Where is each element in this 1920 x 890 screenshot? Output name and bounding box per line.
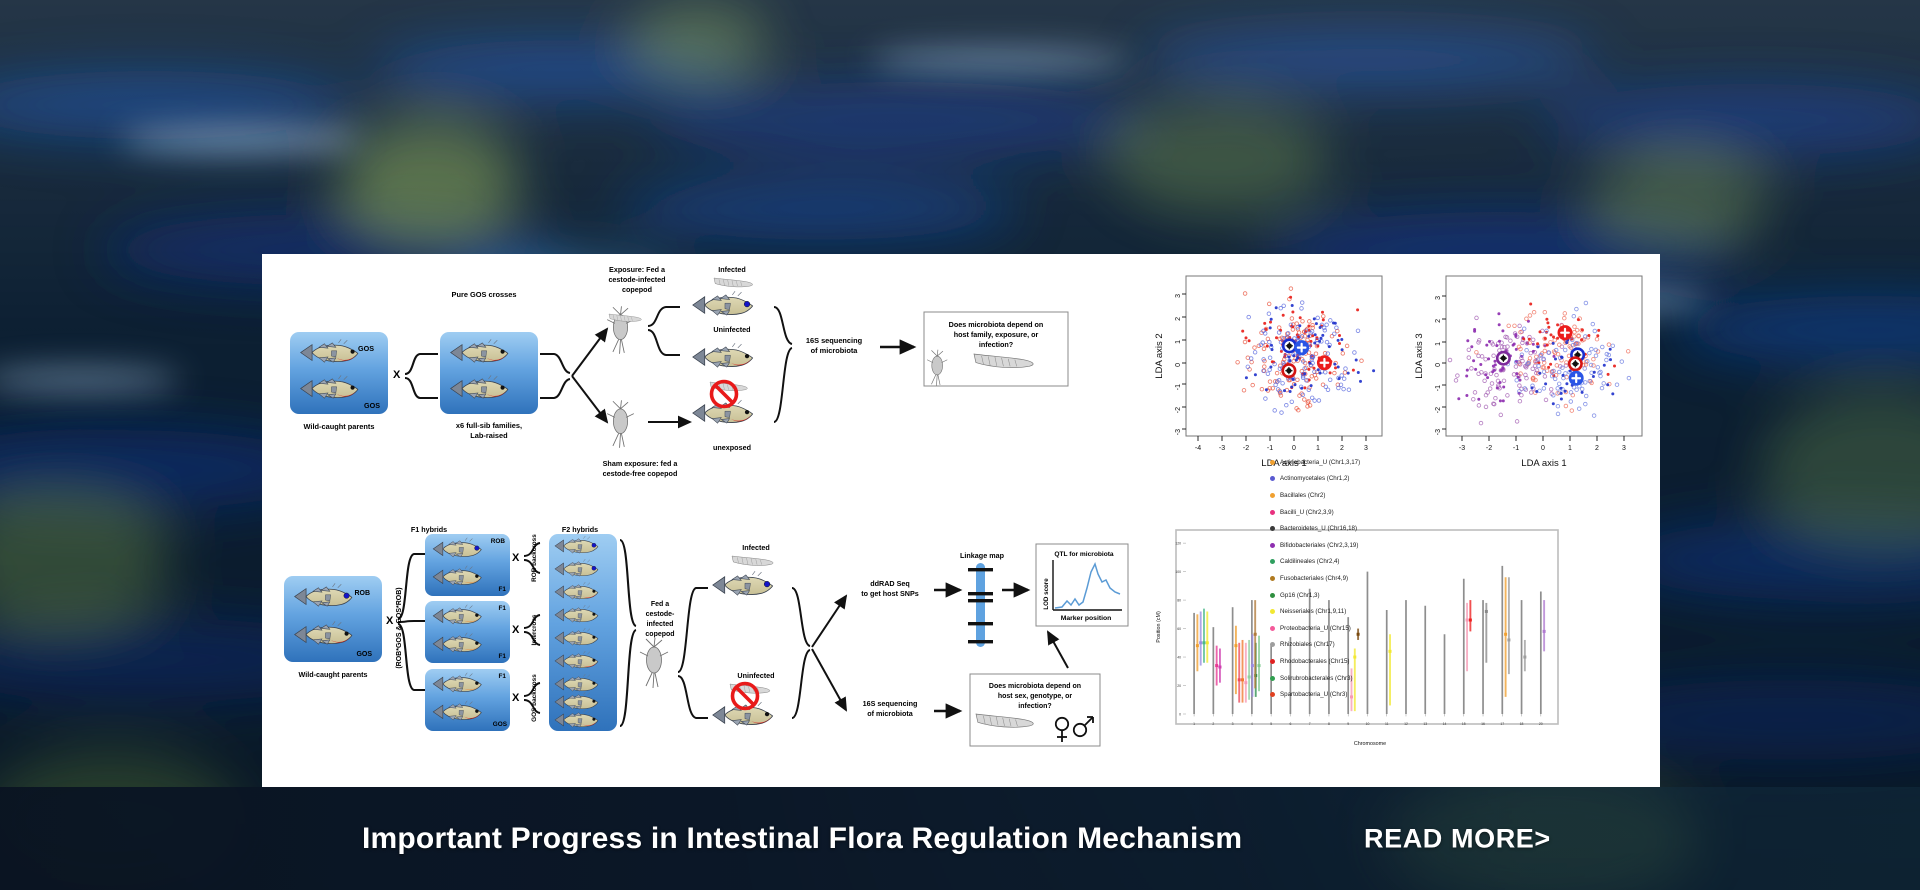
svg-text:11: 11 [1385, 722, 1389, 726]
qtl-legend: Actinobacteria_U (Chr1,3,17)Actinomyceta… [1270, 454, 1360, 703]
banner-title: Important Progress in Intestinal Flora R… [362, 822, 1242, 856]
label-ddrad-1: ddRAD Seq [870, 579, 910, 588]
label-infected-bottom: Infected [742, 543, 770, 552]
qtl-inset-title: QTL for microbiota [1054, 551, 1114, 558]
svg-text:20: 20 [1177, 684, 1181, 688]
label-gos-parent: GOS [356, 651, 372, 658]
svg-text:1: 1 [1193, 722, 1195, 726]
svg-text:-4: -4 [1195, 445, 1201, 452]
fish-infected-top [693, 291, 753, 315]
qtl-legend-dot [1270, 676, 1275, 681]
cross-symbol-bottom: X [386, 615, 394, 627]
svg-text:15: 15 [1462, 722, 1466, 726]
label-gos-bottom: GOS [364, 401, 380, 410]
question-top-1: Does microbiota depend on [949, 320, 1044, 329]
svg-text:8: 8 [1328, 722, 1330, 726]
qtl-legend-label: Gp16 (Chr1,3) [1280, 592, 1320, 599]
question-bottom-1: Does microbiota depend on [989, 683, 1081, 690]
qtl-ylabel: Position (cM) [1156, 611, 1162, 643]
label-pure-gos-crosses: Pure GOS crosses [452, 290, 517, 299]
fish-unexposed-top [693, 399, 753, 423]
svg-text:2: 2 [1595, 445, 1599, 452]
qtl-legend-item: Bifidobacteriales (Chr2,3,19) [1270, 537, 1360, 554]
figure-card: GOS GOS Wild-caught parents X Pure GOS c… [262, 254, 1660, 787]
label-sham-2: cestode-free copepod [603, 469, 678, 478]
label-fed-3: infected [647, 621, 674, 628]
qtl-legend-label: Rhodobacterales (Chr15) [1280, 658, 1349, 665]
lda2-xlabel: LDA axis 1 [1521, 458, 1566, 469]
svg-text:0: 0 [1541, 445, 1545, 452]
svg-text:-1: -1 [1267, 445, 1273, 452]
svg-text:40: 40 [1177, 655, 1181, 659]
label-f1-hybrids: F1 hybrids [411, 525, 447, 534]
parent-tank-bottom [284, 576, 382, 662]
lda2-ylabel: LDA axis 3 [1414, 333, 1425, 378]
cross-symbol-f1-1: X [512, 552, 520, 564]
label-infected-top: Infected [718, 265, 746, 274]
svg-text:-1: -1 [1513, 445, 1519, 452]
research-figure: GOS GOS Wild-caught parents X Pure GOS c… [262, 254, 1660, 787]
qtl-legend-item: Actinomycetales (Chr1,2) [1270, 471, 1360, 488]
qtl-legend-dot [1270, 460, 1275, 465]
chart-lda-axis-1-3: 3 2 1 0 -1 -2 -3 -3-2 -10 12 3 LDA axis … [1414, 276, 1642, 469]
lda1-xticks: -4-3 -2-1 01 23 [1195, 445, 1368, 452]
label-f2-hybrids: F2 hybrids [562, 525, 598, 534]
panel-top-diagram: GOS GOS Wild-caught parents X Pure GOS c… [290, 265, 1068, 478]
svg-text:3: 3 [1232, 722, 1234, 726]
svg-text:2: 2 [1175, 317, 1182, 321]
qtl-legend-dot [1270, 559, 1275, 564]
label-cross-notation: (ROB*GOS & GOS*ROB) [396, 587, 403, 668]
fish-uninfected-bottom [713, 701, 773, 725]
qtl-legend-dot [1270, 493, 1275, 498]
svg-text:2: 2 [1340, 445, 1344, 452]
label-wild-caught-parents-top: Wild-caught parents [304, 422, 375, 431]
svg-text:13: 13 [1423, 722, 1427, 726]
qtl-legend-dot [1270, 642, 1275, 647]
label-fed-2: cestode- [646, 611, 675, 618]
panel-bottom-diagram: ROB GOS Wild-caught parents X (ROB*GOS &… [284, 525, 1128, 746]
svg-text:-3: -3 [1219, 445, 1225, 452]
label-unexposed-top: unexposed [713, 443, 751, 452]
label-sham-1: Sham exposure: fed a [603, 459, 679, 468]
cross-symbol-f1-2: X [512, 624, 520, 636]
qtl-xlabel: Chromosome [1354, 741, 1386, 747]
label-ddrad-2: to get host SNPs [861, 589, 919, 598]
question-bottom-3: infection? [1018, 703, 1051, 710]
label-gos-f1: GOS [493, 721, 508, 728]
qtl-legend-label: Caldilineales (Chr2,4) [1280, 558, 1340, 565]
copepod-infected [607, 306, 634, 354]
question-top-3: infection? [979, 340, 1013, 349]
qtl-legend-label: Solirubrobacterales (Chr3) [1280, 675, 1353, 682]
label-gos-backcross: GOS backcross [531, 674, 538, 722]
qtl-legend-dot [1270, 576, 1275, 581]
label-fed-4: copepod [645, 631, 674, 638]
svg-text:12: 12 [1404, 722, 1408, 726]
lda1-yticks: 3 2 1 0 -1 -2 -3 [1175, 294, 1182, 435]
svg-text:17: 17 [1500, 722, 1504, 726]
svg-text:0: 0 [1292, 445, 1296, 452]
qtl-legend-item: Rhodobacterales (Chr15) [1270, 653, 1360, 670]
svg-text:0: 0 [1179, 712, 1181, 716]
qtl-legend-item: Actinobacteria_U (Chr1,3,17) [1270, 454, 1360, 471]
families-tank [440, 332, 538, 414]
read-more-link[interactable]: READ MORE> [1364, 823, 1551, 854]
label-rob-f1: ROB [491, 538, 506, 545]
label-families-1: x6 full-sib families, [456, 421, 522, 430]
svg-text:1: 1 [1568, 445, 1572, 452]
qtl-legend-dot [1270, 593, 1275, 598]
svg-text:14: 14 [1443, 722, 1447, 726]
svg-text:-3: -3 [1435, 429, 1442, 435]
label-16s-bottom-1: 16S sequencing [863, 699, 918, 708]
qtl-legend-dot [1270, 510, 1275, 515]
svg-text:1: 1 [1175, 340, 1182, 344]
lda1-ylabel: LDA axis 2 [1154, 333, 1165, 378]
svg-text:3: 3 [1435, 296, 1442, 300]
label-intercross: Intercross [531, 614, 538, 645]
label-exposure-1: Exposure: Fed a [609, 265, 666, 274]
svg-text:0: 0 [1435, 363, 1442, 367]
svg-text:16: 16 [1481, 722, 1485, 726]
svg-text:9: 9 [1347, 722, 1349, 726]
label-16s-bottom-2: of microbiota [867, 709, 914, 718]
label-rob-parent: ROB [354, 590, 370, 597]
svg-text:6: 6 [1289, 722, 1291, 726]
label-f1-d: F1 [499, 673, 507, 680]
qtl-legend-item: Spartobacteria_U (Chr3) [1270, 686, 1360, 703]
label-fed-1: Fed a [651, 601, 669, 608]
svg-text:-2: -2 [1243, 445, 1249, 452]
label-uninfected-bottom: Uninfected [737, 671, 774, 680]
svg-text:4: 4 [1251, 722, 1253, 726]
qtl-legend-item: Caldilineales (Chr2,4) [1270, 554, 1360, 571]
svg-text:100: 100 [1175, 570, 1181, 574]
svg-text:-2: -2 [1486, 445, 1492, 452]
label-rob-backcross: ROB backcross [531, 534, 538, 582]
qtl-legend-item: Bacteroidetes_U (Chr16,18) [1270, 520, 1360, 537]
qtl-legend-dot [1270, 609, 1275, 614]
qtl-legend-label: Rhizobiales (Chr17) [1280, 641, 1335, 648]
svg-text:-3: -3 [1175, 429, 1182, 435]
label-families-2: Lab-raised [470, 431, 508, 440]
qtl-legend-label: Fusobacteriales (Chr4,9) [1280, 575, 1348, 582]
qtl-legend-label: Spartobacteria_U (Chr3) [1280, 691, 1347, 698]
qtl-legend-item: Bacilli_U (Chr2,3,9) [1270, 504, 1360, 521]
cross-symbol-top: X [393, 369, 401, 381]
label-exposure-2: cestode-infected [608, 275, 665, 284]
svg-text:2: 2 [1212, 722, 1214, 726]
label-f1-c: F1 [499, 653, 507, 660]
question-top-2: host family, exposure, or [954, 330, 1039, 339]
label-uninfected-top: Uninfected [713, 325, 750, 334]
svg-text:5: 5 [1270, 722, 1272, 726]
qtl-legend-dot [1270, 543, 1275, 548]
fish-uninfected-top [693, 343, 753, 367]
qtl-legend-label: Actinobacteria_U (Chr1,3,17) [1280, 459, 1360, 466]
qtl-legend-dot [1270, 626, 1275, 631]
label-wild-caught-parents-bottom: Wild-caught parents [298, 670, 367, 679]
label-linkage-map: Linkage map [960, 551, 1005, 560]
svg-text:-2: -2 [1435, 407, 1442, 413]
svg-text:-2: -2 [1175, 407, 1182, 413]
label-f1-a: F1 [499, 586, 507, 593]
lda2-xticks: -3-2 -10 12 3 [1459, 445, 1626, 452]
linkage-map-chromosome [976, 563, 985, 647]
qtl-legend-label: Bifidobacteriales (Chr2,3,19) [1280, 542, 1358, 549]
question-bottom-2: host sex, genotype, or [998, 693, 1073, 700]
svg-text:80: 80 [1177, 598, 1181, 602]
svg-text:-1: -1 [1175, 384, 1182, 390]
copepod-sham [607, 400, 634, 448]
qtl-legend-item: Gp16 (Chr1,3) [1270, 587, 1360, 604]
qtl-legend-dot [1270, 659, 1275, 664]
svg-text:1: 1 [1316, 445, 1320, 452]
qtl-legend-item: Neisseriales (Chr1,9,11) [1270, 603, 1360, 620]
qtl-legend-label: Bacilli_U (Chr2,3,9) [1280, 509, 1334, 516]
qtl-legend-label: Bacillales (Chr2) [1280, 492, 1325, 499]
fish-infected-bottom [713, 571, 773, 595]
qtl-legend-label: Proteobacteria_U (Chr15) [1280, 625, 1351, 632]
svg-text:-3: -3 [1459, 445, 1465, 452]
svg-text:3: 3 [1175, 294, 1182, 298]
qtl-legend-item: Proteobacteria_U (Chr15) [1270, 620, 1360, 637]
qtl-legend-label: Neisseriales (Chr1,9,11) [1280, 608, 1346, 615]
caption-band: Important Progress in Intestinal Flora R… [0, 787, 1920, 890]
qtl-legend-item: Rhizobiales (Chr17) [1270, 637, 1360, 654]
svg-text:60: 60 [1177, 627, 1181, 631]
svg-text:18: 18 [1520, 722, 1524, 726]
svg-text:1: 1 [1435, 342, 1442, 346]
qtl-legend-dot [1270, 476, 1275, 481]
copepod-bottom [640, 638, 668, 688]
chart-lda-axis-1-2: 3 2 1 0 -1 -2 -3 -4-3 -2-1 01 23 LDA axi… [1154, 276, 1382, 469]
svg-text:10: 10 [1366, 722, 1370, 726]
label-gos-top: GOS [358, 344, 374, 353]
svg-text:3: 3 [1364, 445, 1368, 452]
label-f1-b: F1 [499, 605, 507, 612]
qtl-legend-item: Bacillales (Chr2) [1270, 487, 1360, 504]
qtl-legend-label: Bacteroidetes_U (Chr16,18) [1280, 525, 1357, 532]
lda2-yticks: 3 2 1 0 -1 -2 -3 [1435, 296, 1442, 435]
qtl-legend-label: Actinomycetales (Chr1,2) [1280, 475, 1349, 482]
qtl-inset-xlabel: Marker position [1061, 615, 1112, 622]
qtl-legend-dot [1270, 526, 1275, 531]
svg-text:120: 120 [1175, 541, 1181, 545]
qtl-legend-item: Solirubrobacterales (Chr3) [1270, 670, 1360, 687]
svg-text:20: 20 [1539, 722, 1543, 726]
label-16s-top-1: 16S sequencing [806, 336, 863, 345]
svg-text:3: 3 [1622, 445, 1626, 452]
svg-text:-1: -1 [1435, 385, 1442, 391]
label-16s-top-2: of microbiota [811, 346, 859, 355]
svg-text:0: 0 [1175, 363, 1182, 367]
label-exposure-3: copepod [622, 285, 652, 294]
qtl-legend-item: Fusobacteriales (Chr4,9) [1270, 570, 1360, 587]
cross-symbol-f1-3: X [512, 692, 520, 704]
qtl-legend-dot [1270, 692, 1275, 697]
svg-text:7: 7 [1309, 722, 1311, 726]
qtl-inset-ylabel: LOD score [1043, 578, 1050, 610]
svg-text:2: 2 [1435, 319, 1442, 323]
